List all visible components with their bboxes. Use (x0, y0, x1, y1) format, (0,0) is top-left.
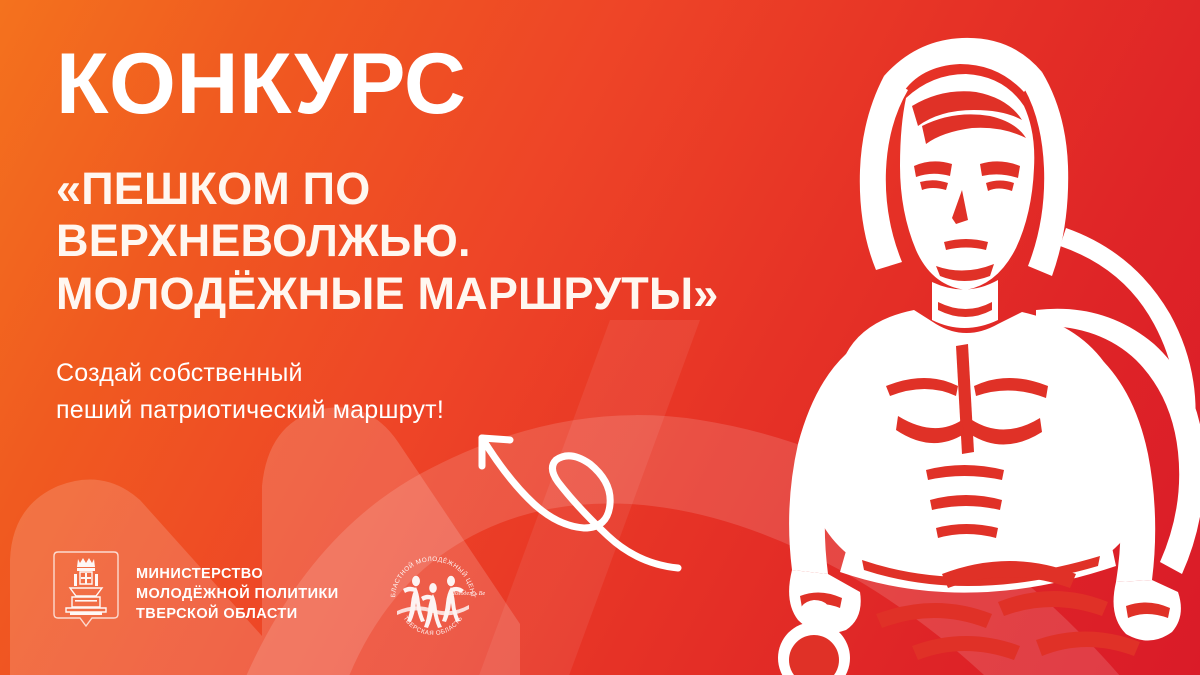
tagline-line-1: Создай собственный (56, 355, 716, 392)
page-title: КОНКУРС (56, 44, 716, 125)
poster-copy: КОНКУРС «ПЕШКОМ ПО ВЕРХНЕВОЛЖЬЮ. МОЛОДЁЖ… (56, 44, 716, 429)
youth-center-logo: ОБЛАСТНОЙ МОЛОДЁЖНЫЙ ЦЕНТР ТВЕРСКАЯ ОБЛА… (381, 543, 485, 647)
tagline: Создай собственный пеший патриотический … (56, 355, 716, 429)
headline: «ПЕШКОМ ПО ВЕРХНЕВОЛЖЬЮ. МОЛОДЁЖНЫЕ МАРШ… (56, 163, 716, 321)
logo-row: МИНИСТЕРСТВО МОЛОДЁЖНОЙ ПОЛИТИКИ ТВЕРСКО… (52, 543, 485, 647)
ministry-line-3: ТВЕРСКОЙ ОБЛАСТИ (136, 605, 339, 625)
headline-line-2: ВЕРХНЕВОЛЖЬЮ. (56, 215, 716, 268)
promo-poster: КОНКУРС «ПЕШКОМ ПО ВЕРХНЕВОЛЖЬЮ. МОЛОДЁЖ… (0, 0, 1200, 675)
headline-line-1: «ПЕШКОМ ПО (56, 163, 716, 216)
ministry-logo: МИНИСТЕРСТВО МОЛОДЁЖНОЙ ПОЛИТИКИ ТВЕРСКО… (52, 550, 339, 640)
headline-line-3: МОЛОДЁЖНЫЕ МАРШРУТЫ» (56, 268, 716, 321)
ministry-line-1: МИНИСТЕРСТВО (136, 565, 339, 585)
youth-center-script-line-1: Молодежь Верхневолжья (449, 590, 485, 597)
tagline-line-2: пеший патриотический маршрут! (56, 392, 716, 429)
ministry-name: МИНИСТЕРСТВО МОЛОДЁЖНОЙ ПОЛИТИКИ ТВЕРСКО… (136, 565, 339, 625)
heroic-man-illustration (736, 14, 1200, 675)
ministry-line-2: МОЛОДЁЖНОЙ ПОЛИТИКИ (136, 585, 339, 605)
tver-coat-of-arms-icon (52, 550, 120, 640)
hand-drawn-looping-arrow (452, 408, 692, 598)
